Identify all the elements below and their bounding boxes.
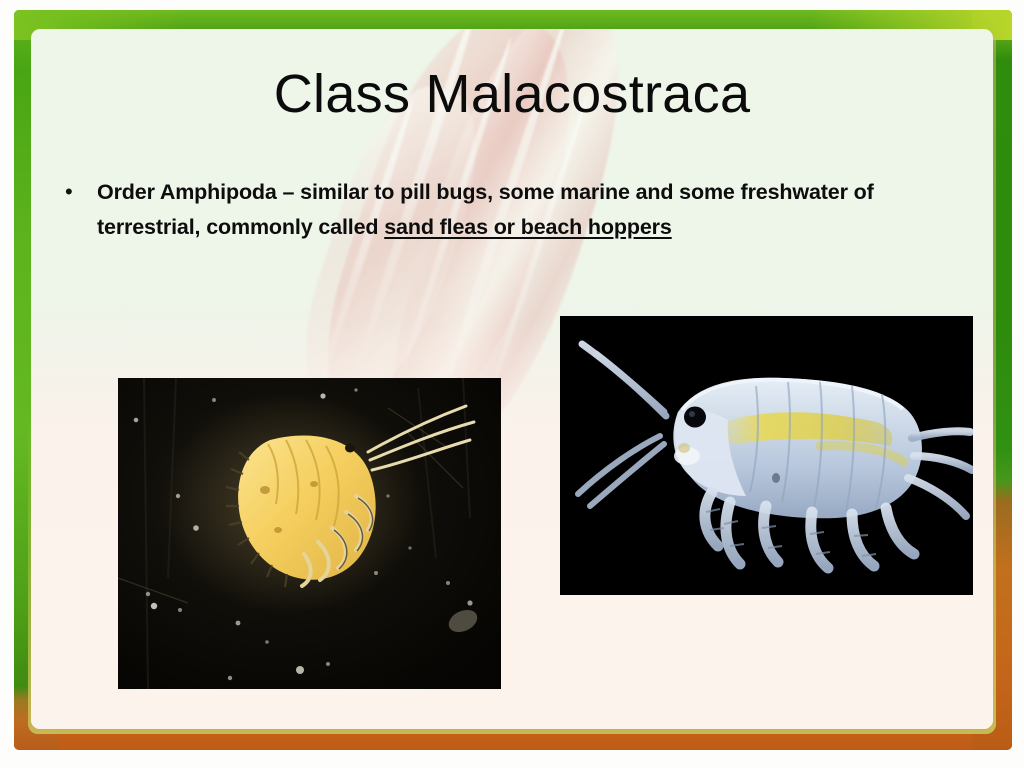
amphipod-translucent-illustration	[560, 316, 973, 595]
bullet-list: • Order Amphipoda – similar to pill bugs…	[57, 175, 969, 245]
bullet-text-underlined: sand fleas or beach hoppers	[384, 215, 671, 239]
bullet-item-text: Order Amphipoda – similar to pill bugs, …	[97, 175, 969, 245]
amphipod-yellow-illustration	[118, 378, 501, 689]
page-title: Class Malacostraca	[31, 65, 993, 123]
amphipod-yellow-photo	[118, 378, 501, 689]
slide-canvas: Class Malacostraca • Order Amphipoda – s…	[31, 29, 993, 729]
slide: Class Malacostraca • Order Amphipoda – s…	[0, 0, 1024, 768]
amphipod-translucent-photo	[560, 316, 973, 595]
bullet-marker-icon: •	[57, 175, 97, 245]
